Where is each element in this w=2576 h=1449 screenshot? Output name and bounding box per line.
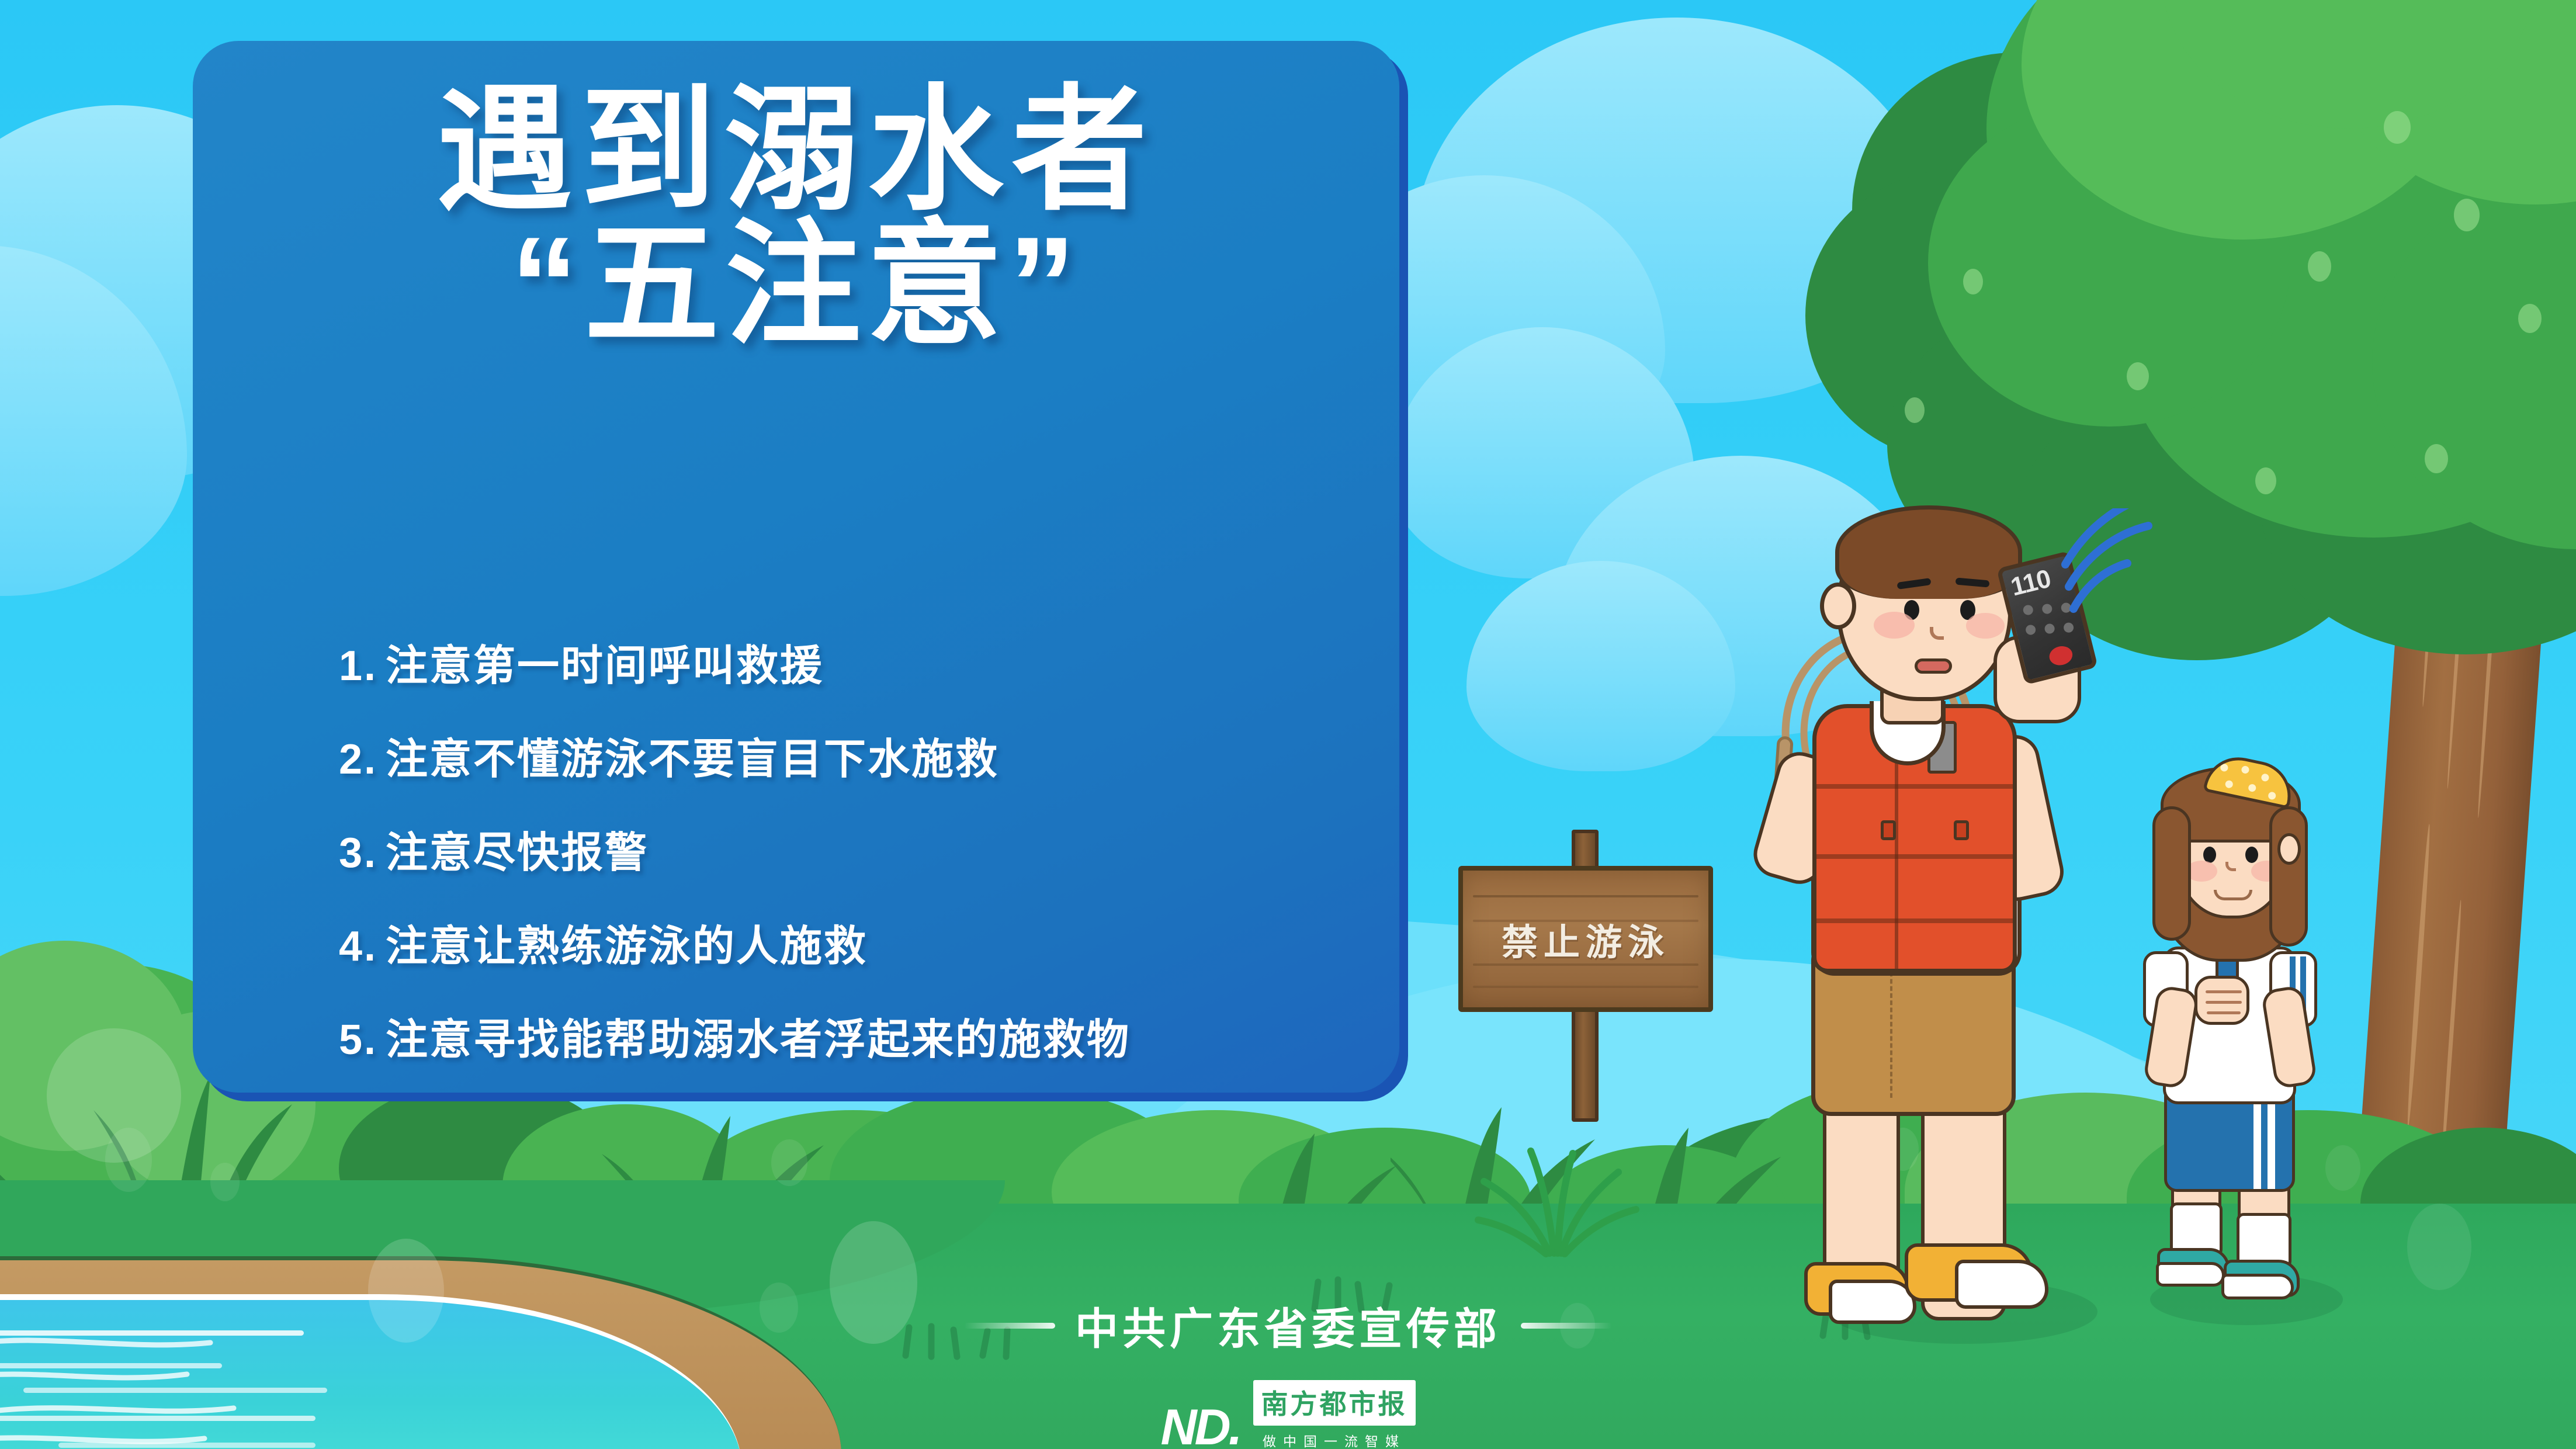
tip-item: 5.注意寻找能帮助溺水者浮起来的施救物 — [339, 1005, 1367, 1066]
man-mouth — [1915, 658, 1952, 674]
nandu-logo: ND. 南方都市报 做中国一流智媒 — [1160, 1380, 1415, 1449]
tip-text: 注意让熟练游泳的人施救 — [386, 923, 868, 970]
girl-hair-side-right — [2269, 806, 2308, 947]
man-head — [1837, 508, 2012, 701]
man-blush — [1874, 612, 1915, 639]
publisher-name: 中共广东省委宣传部 — [1075, 1294, 1501, 1357]
nd-logo-name: 南方都市报 — [1253, 1380, 1416, 1426]
man-blush — [1966, 613, 2005, 639]
girl-ear — [2277, 833, 2301, 865]
phone-number-display: 110 — [2008, 564, 2054, 602]
character-man: 110 — [1788, 502, 2162, 1320]
divider-line-right — [1521, 1323, 1612, 1329]
call-button-icon — [2047, 644, 2075, 668]
man-nose — [1930, 627, 1944, 640]
girl-nose — [2225, 862, 2236, 871]
tip-item: 1.注意第一时间呼叫救援 — [339, 631, 1367, 692]
publisher-row: 中共广东省委宣传部 — [964, 1294, 1612, 1357]
sign-board: 禁止游泳 — [1458, 866, 1713, 1012]
tip-text: 注意不懂游泳不要盲目下水施救 — [386, 736, 999, 783]
poster-title-line1: 遇到溺水者 — [193, 82, 1399, 220]
poster-canvas: 禁止游泳 — [0, 0, 2576, 1449]
girl-hands — [2194, 976, 2249, 1025]
tip-text: 注意寻找能帮助溺水者浮起来的施救物 — [386, 1017, 1131, 1063]
poster-title-line2: “五注意” — [193, 216, 1399, 355]
nd-logo-text-block: 南方都市报 做中国一流智媒 — [1253, 1380, 1416, 1449]
tip-item: 4.注意让熟练游泳的人施救 — [339, 911, 1367, 973]
nd-logo-mark: ND. — [1160, 1405, 1240, 1449]
grass-tuft-large — [1461, 1128, 1706, 1262]
girl-hair-side-left — [2152, 806, 2191, 941]
tip-text: 注意尽快报警 — [386, 830, 649, 876]
tip-item: 3.注意尽快报警 — [339, 818, 1367, 879]
footer: 中共广东省委宣传部 ND. 南方都市报 做中国一流智媒 — [0, 1294, 2576, 1449]
character-girl — [2127, 754, 2360, 1309]
girl-mouth — [2214, 890, 2252, 900]
man-ear — [1820, 583, 1856, 629]
tip-item: 2.注意不懂游泳不要盲目下水施救 — [339, 724, 1367, 786]
tip-number: 3. — [339, 830, 377, 876]
divider-line-left — [964, 1323, 1055, 1329]
sign-text: 禁止游泳 — [1502, 913, 1670, 965]
tip-text: 注意第一时间呼叫救援 — [386, 643, 824, 689]
info-panel: 遇到溺水者 “五注意” 1.注意第一时间呼叫救援 2.注意不懂游泳不要盲目下水施… — [193, 41, 1399, 1093]
nd-logo-tagline: 做中国一流智媒 — [1263, 1430, 1406, 1449]
tip-number: 2. — [339, 736, 377, 783]
tip-number: 4. — [339, 923, 377, 970]
girl-eye-right — [2245, 847, 2258, 863]
tip-number: 1. — [339, 643, 377, 689]
tip-number: 5. — [339, 1017, 377, 1063]
tips-list: 1.注意第一时间呼叫救援 2.注意不懂游泳不要盲目下水施救 3.注意尽快报警 4… — [339, 631, 1367, 1098]
